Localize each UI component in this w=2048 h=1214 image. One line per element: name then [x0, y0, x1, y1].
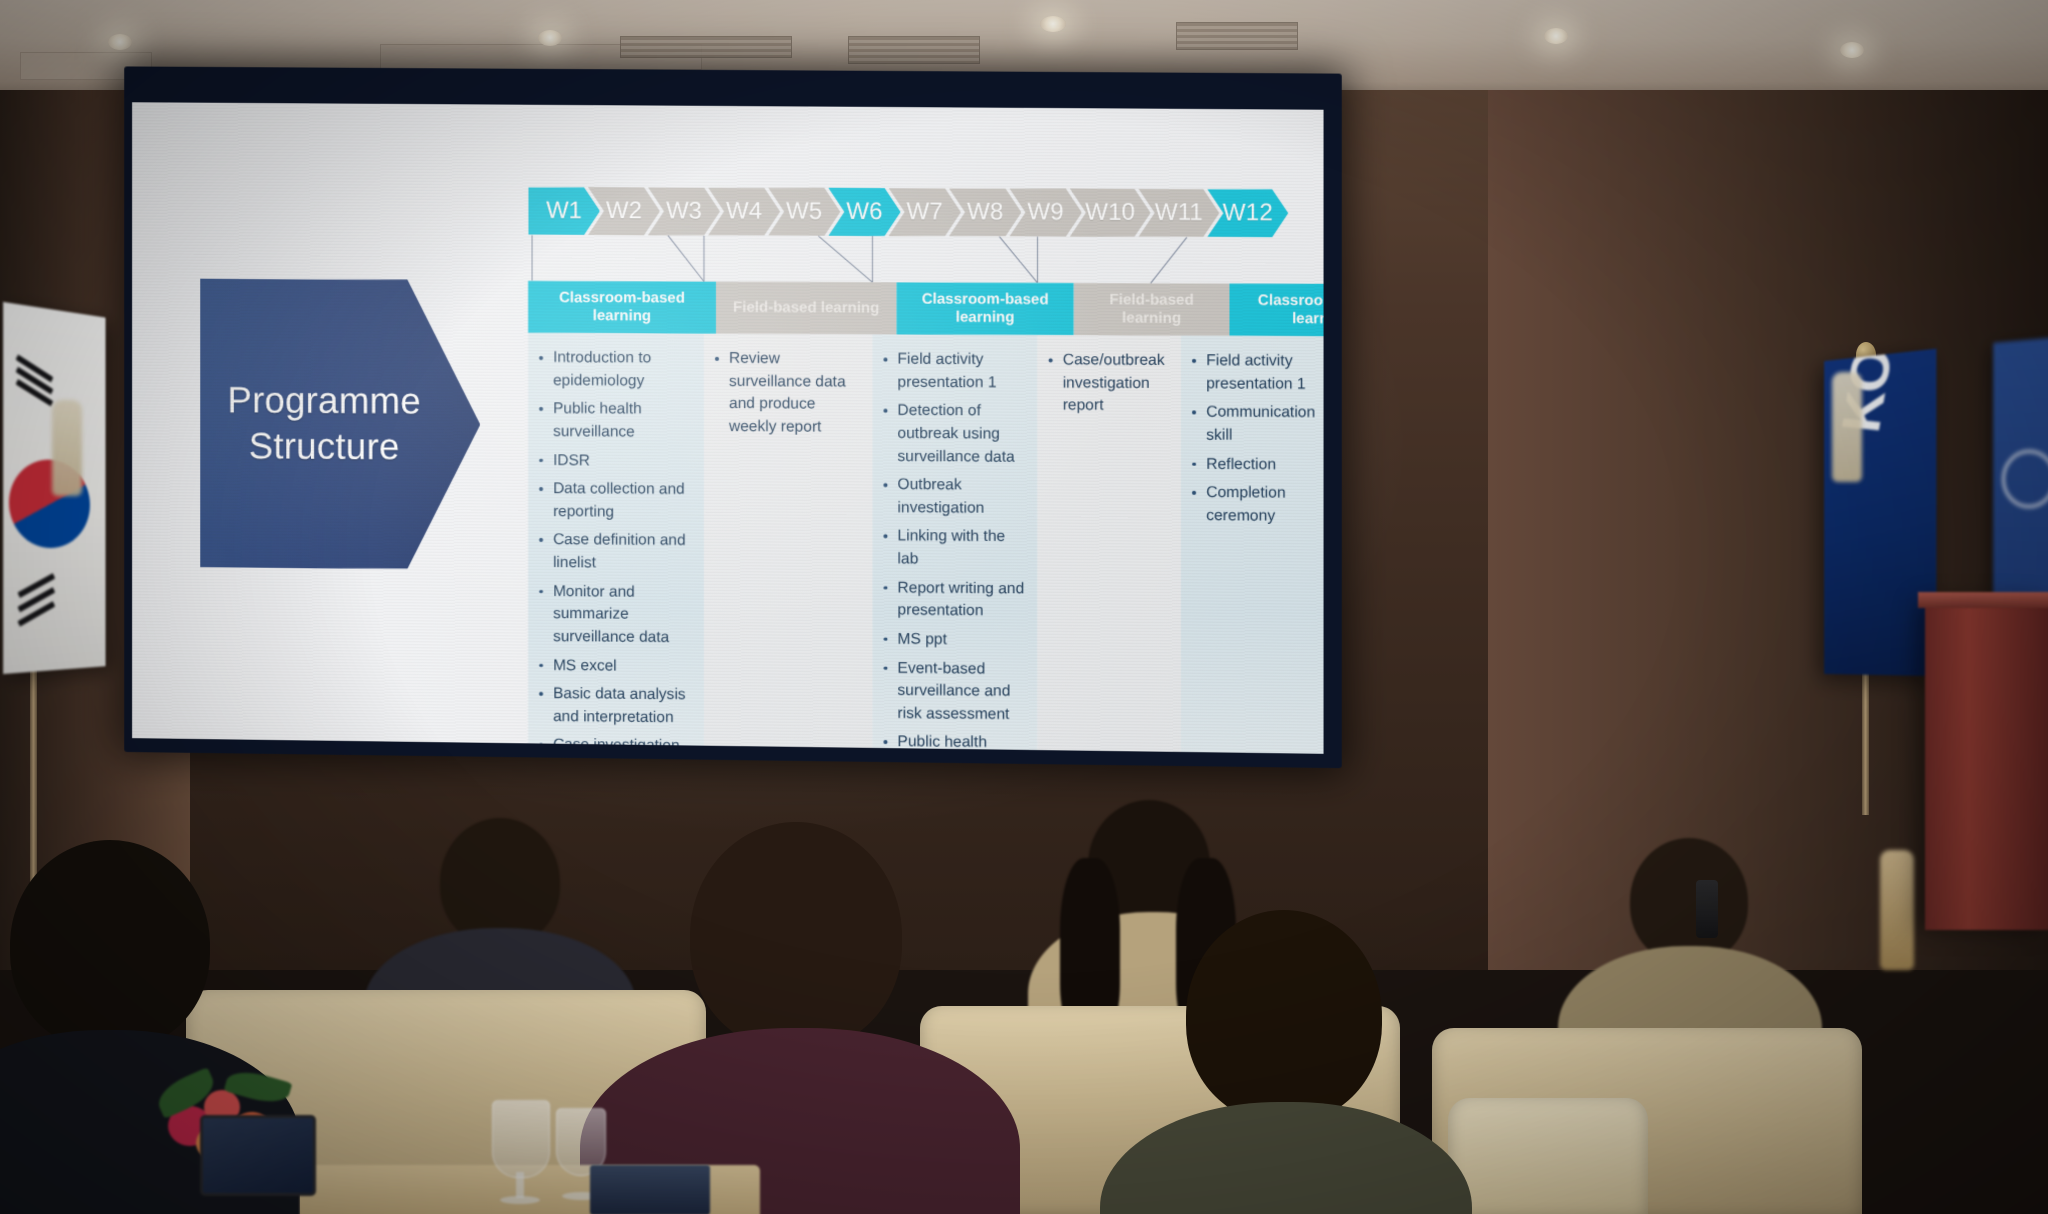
list-item: MS ppt	[878, 628, 1027, 652]
microphone	[1696, 880, 1718, 938]
week-label: W12	[1223, 199, 1273, 227]
week-chevron-w11: W11	[1138, 189, 1219, 238]
week-timeline: W1W2W3W4W5W6W7W8W9W10W11W12	[528, 187, 1276, 237]
phase-header-2: Field-based learning	[716, 282, 897, 335]
week-chevron-w10: W10	[1070, 188, 1151, 237]
phase-connector-lines	[528, 235, 1191, 284]
list-item: Monitor and summarize surveillance data	[534, 581, 694, 650]
phase-header-1: Classroom-based learning	[528, 281, 716, 334]
list-item: Completion ceremony	[1187, 482, 1324, 529]
list-item: Communication skill	[1187, 401, 1324, 447]
chair	[1448, 1098, 1648, 1214]
phase-content-row: Introduction to epidemiologyPublic healt…	[528, 333, 1323, 754]
list-item: Outbreak investigation	[878, 474, 1027, 520]
list-item: Field activity presentation 1	[1187, 350, 1324, 396]
phase-column-4: Case/outbreak investigation report	[1038, 335, 1181, 754]
week-chevron-w12: W12	[1207, 189, 1288, 238]
list-item: Field activity presentation 1	[878, 348, 1027, 394]
list-item: Review surveillance data and produce wee…	[710, 348, 862, 439]
flag-emblem-icon	[2002, 449, 2048, 508]
week-label: W1	[546, 197, 582, 225]
week-label: W3	[666, 197, 702, 225]
slide-title-block: Programme Structure	[200, 279, 480, 570]
list-item: Detection of outbreak using surveillance…	[878, 400, 1027, 469]
projection-screen-frame: Programme Structure W1W2W3W4W5W6W7W8W9W1…	[124, 66, 1342, 768]
list-item: Report writing and presentation	[878, 577, 1027, 624]
ceiling-light	[1840, 42, 1864, 58]
week-label: W7	[907, 198, 943, 226]
week-label: W4	[726, 198, 762, 226]
phase-header-3: Classroom-based learning	[897, 282, 1074, 335]
tablet-device[interactable]	[200, 1115, 316, 1196]
week-label: W9	[1027, 198, 1063, 226]
week-label: W10	[1085, 199, 1135, 227]
flag-tassel	[1832, 372, 1862, 482]
list-item: MS excel	[534, 654, 694, 678]
list-item: IDSR	[534, 449, 694, 473]
list-item: Case definition and linelist	[534, 529, 694, 575]
flag-tassel	[52, 400, 82, 496]
wine-glass-stem	[516, 1172, 524, 1198]
ceiling-light	[1040, 16, 1066, 32]
podium	[1925, 600, 2048, 930]
ceiling-vent	[1176, 22, 1298, 50]
list-item: Data collection and reporting	[534, 478, 694, 524]
wine-glass	[492, 1100, 550, 1178]
laptop[interactable]	[590, 1165, 710, 1214]
week-label: W2	[606, 197, 642, 225]
bullet-list: Review surveillance data and produce wee…	[710, 348, 862, 439]
phase-header-5: Classroom-based learning	[1229, 284, 1323, 337]
phase-column-1: Introduction to epidemiologyPublic healt…	[528, 333, 704, 754]
list-item: Reflection	[1187, 453, 1324, 477]
wine-glass-base	[500, 1196, 540, 1204]
presentation-slide: Programme Structure W1W2W3W4W5W6W7W8W9W1…	[132, 104, 1323, 752]
list-item: Case investigation	[534, 734, 694, 754]
bullet-list: Field activity presentation 1Communicati…	[1187, 350, 1324, 529]
week-label: W5	[786, 198, 822, 226]
list-item: Introduction to epidemiology	[534, 347, 694, 393]
phase-header-4: Field-based learning	[1074, 283, 1230, 336]
list-item: Event-based surveillance and risk assess…	[878, 657, 1027, 726]
phase-column-3: Field activity presentation 1Detection o…	[872, 334, 1037, 753]
ceiling-vent	[620, 36, 792, 58]
bullet-list: Case/outbreak investigation report	[1044, 349, 1171, 418]
podium-top	[1918, 592, 2048, 608]
projection-screen: Programme Structure W1W2W3W4W5W6W7W8W9W1…	[132, 102, 1323, 754]
ceiling-light	[108, 34, 132, 50]
flag-tassel	[1880, 850, 1914, 970]
page-title: Programme Structure	[200, 377, 480, 471]
phase-column-2: Review surveillance data and produce wee…	[704, 334, 872, 754]
phase-column-5: Field activity presentation 1Communicati…	[1181, 336, 1324, 754]
conference-room-scene: Programme Structure W1W2W3W4W5W6W7W8W9W1…	[0, 0, 2048, 1214]
list-item: Linking with the lab	[878, 526, 1027, 572]
list-item: Public health intervention	[878, 731, 1027, 754]
week-label: W11	[1155, 199, 1203, 227]
list-item: Public health surveillance	[534, 398, 694, 444]
list-item: Case/outbreak investigation report	[1044, 349, 1171, 418]
ceiling-light	[1544, 28, 1568, 44]
ceiling-vent	[848, 36, 980, 64]
week-label: W6	[846, 198, 882, 226]
week-chevron-w1: W1	[528, 187, 600, 235]
ceiling-light	[538, 30, 562, 46]
bullet-list: Introduction to epidemiologyPublic healt…	[534, 347, 694, 754]
week-label: W8	[967, 198, 1003, 226]
list-item: Basic data analysis and interpretation	[534, 683, 694, 730]
bullet-list: Field activity presentation 1Detection o…	[878, 348, 1027, 753]
phase-header-row: Classroom-based learningField-based lear…	[528, 281, 1323, 337]
